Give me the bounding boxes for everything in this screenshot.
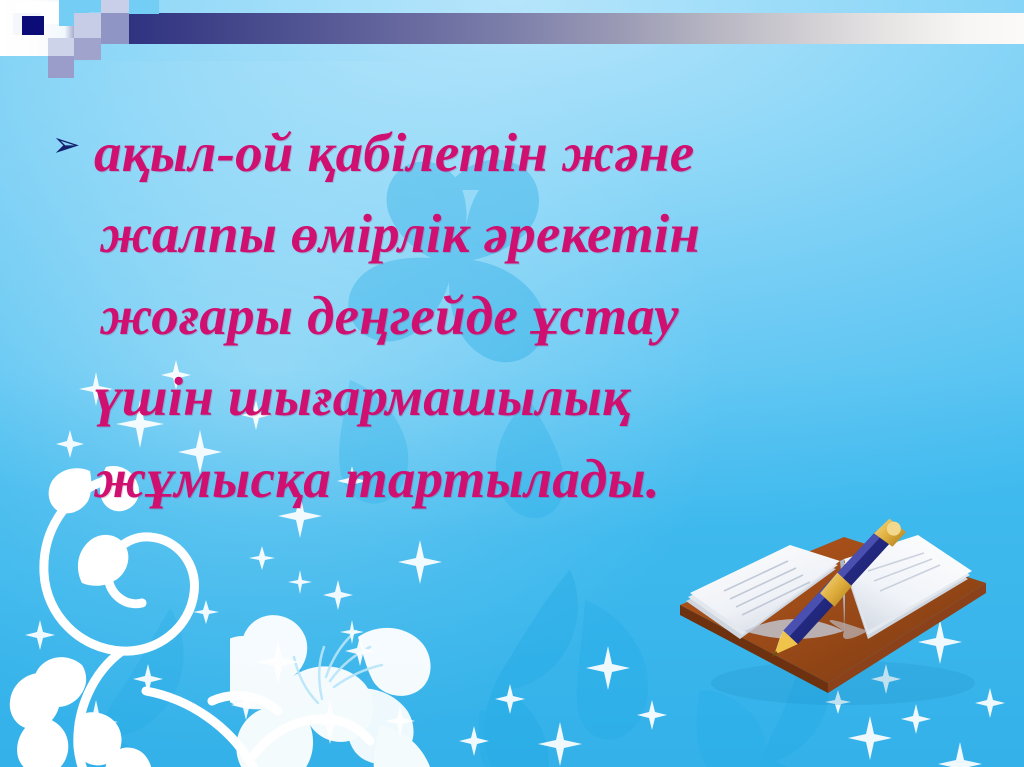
checker-square <box>89 0 101 12</box>
gradient-title-bar <box>59 13 1024 44</box>
open-book-with-pen-icon <box>668 497 998 712</box>
text-line-2: жалпы өмірлік әрекетін <box>94 193 952 274</box>
checker-square <box>22 16 44 35</box>
bullet-list-item: ➢ ақыл-ой қабілетін және жалпы өмірлік ә… <box>52 112 952 519</box>
text-line-1: ақыл-ой қабілетін және <box>94 112 952 193</box>
checker-square <box>74 38 101 60</box>
checker-square <box>101 13 129 44</box>
slide-body: ➢ ақыл-ой қабілетін және жалпы өмірлік ә… <box>52 112 952 519</box>
bullet-text-block: ақыл-ой қабілетін және жалпы өмірлік әре… <box>94 112 952 519</box>
arrow-bullet-icon: ➢ <box>52 112 94 162</box>
text-line-4: үшін шығармашылық <box>94 356 952 437</box>
checker-square <box>48 56 74 78</box>
checker-square <box>129 0 159 14</box>
presentation-slide: ➢ ақыл-ой қабілетін және жалпы өмірлік ә… <box>0 0 1024 767</box>
checker-square <box>101 0 129 14</box>
text-line-3: жоғары деңгейде ұстау <box>94 275 952 356</box>
white-lily-icon <box>230 607 460 767</box>
slide-top-banner <box>0 0 1024 56</box>
